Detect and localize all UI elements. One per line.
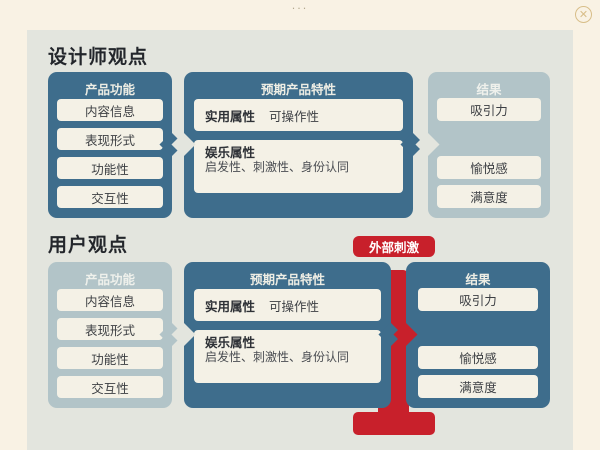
slide-card: 设计师观点 产品功能 内容信息 表现形式 功能性 交互性 预期产品特性 实用属性… xyxy=(27,30,573,450)
slide-viewer: ··· ✕ 设计师观点 产品功能 内容信息 表现形式 功能性 交互性 预期产品特… xyxy=(0,0,600,450)
more-options-dots[interactable]: ··· xyxy=(0,4,600,14)
chip-utility-detail: 可操作性 xyxy=(269,296,319,315)
chip-presentation-form[interactable]: 表现形式 xyxy=(57,318,163,340)
chip-interactivity[interactable]: 交互性 xyxy=(57,186,163,208)
panel-product-features-user: 产品功能 内容信息 表现形式 功能性 交互性 xyxy=(48,262,172,408)
chip-entertainment-attribute[interactable]: 娱乐属性 启发性、刺激性、身份认同 xyxy=(194,330,381,383)
chip-utility-label: 实用属性 xyxy=(205,296,255,315)
chip-entertainment-label: 娱乐属性 xyxy=(205,140,403,160)
section-title-designer: 设计师观点 xyxy=(48,42,148,69)
chip-satisfaction[interactable]: 满意度 xyxy=(437,185,541,208)
chevron-right-icon xyxy=(159,132,183,156)
chip-presentation-form[interactable]: 表现形式 xyxy=(57,128,163,150)
panel-title-results: 结果 xyxy=(406,269,550,288)
panel-title-results: 结果 xyxy=(428,79,550,98)
chip-entertainment-detail: 启发性、刺激性、身份认同 xyxy=(205,160,403,175)
chip-attractiveness[interactable]: 吸引力 xyxy=(437,98,541,121)
chip-interactivity[interactable]: 交互性 xyxy=(57,376,163,398)
panel-expected-attributes-user: 预期产品特性 实用属性 可操作性 娱乐属性 启发性、刺激性、身份认同 xyxy=(184,262,391,408)
chevron-right-icon xyxy=(400,132,424,156)
panel-results-designer: 结果 吸引力 愉悦感 满意度 xyxy=(428,72,550,218)
chip-entertainment-detail: 启发性、刺激性、身份认同 xyxy=(205,350,381,365)
panel-title-expected-attributes: 预期产品特性 xyxy=(184,269,391,288)
chip-functionality[interactable]: 功能性 xyxy=(57,347,163,369)
chevron-notch-left-icon xyxy=(415,132,439,156)
panel-title-product-features: 产品功能 xyxy=(48,79,172,98)
chip-utility-detail: 可操作性 xyxy=(269,106,319,125)
chip-utility-label: 实用属性 xyxy=(205,106,255,125)
chip-satisfaction[interactable]: 满意度 xyxy=(418,375,538,398)
chevron-notch-left-icon xyxy=(171,322,195,346)
chip-pleasure[interactable]: 愉悦感 xyxy=(437,156,541,179)
chip-entertainment-attribute[interactable]: 娱乐属性 启发性、刺激性、身份认同 xyxy=(194,140,403,193)
panel-results-user: 结果 吸引力 愉悦感 满意度 xyxy=(406,262,550,408)
chip-attractiveness[interactable]: 吸引力 xyxy=(418,288,538,311)
external-stimulus-label: 外部刺激 xyxy=(353,236,435,257)
section-title-user: 用户观点 xyxy=(48,230,128,257)
chevron-notch-left-icon xyxy=(171,132,195,156)
chevron-right-icon xyxy=(159,322,183,346)
external-stimulus-foot xyxy=(353,412,435,435)
panel-title-product-features: 产品功能 xyxy=(48,269,172,288)
panel-title-expected-attributes: 预期产品特性 xyxy=(184,79,413,98)
chip-entertainment-label: 娱乐属性 xyxy=(205,330,381,350)
chip-utility-attribute[interactable]: 实用属性 可操作性 xyxy=(194,289,381,321)
chip-utility-attribute[interactable]: 实用属性 可操作性 xyxy=(194,99,403,131)
panel-product-features-designer: 产品功能 内容信息 表现形式 功能性 交互性 xyxy=(48,72,172,218)
chip-content-info[interactable]: 内容信息 xyxy=(57,289,163,311)
close-icon[interactable]: ✕ xyxy=(575,6,592,23)
chip-functionality[interactable]: 功能性 xyxy=(57,157,163,179)
chip-content-info[interactable]: 内容信息 xyxy=(57,99,163,121)
panel-expected-attributes-designer: 预期产品特性 实用属性 可操作性 娱乐属性 启发性、刺激性、身份认同 xyxy=(184,72,413,218)
chip-pleasure[interactable]: 愉悦感 xyxy=(418,346,538,369)
